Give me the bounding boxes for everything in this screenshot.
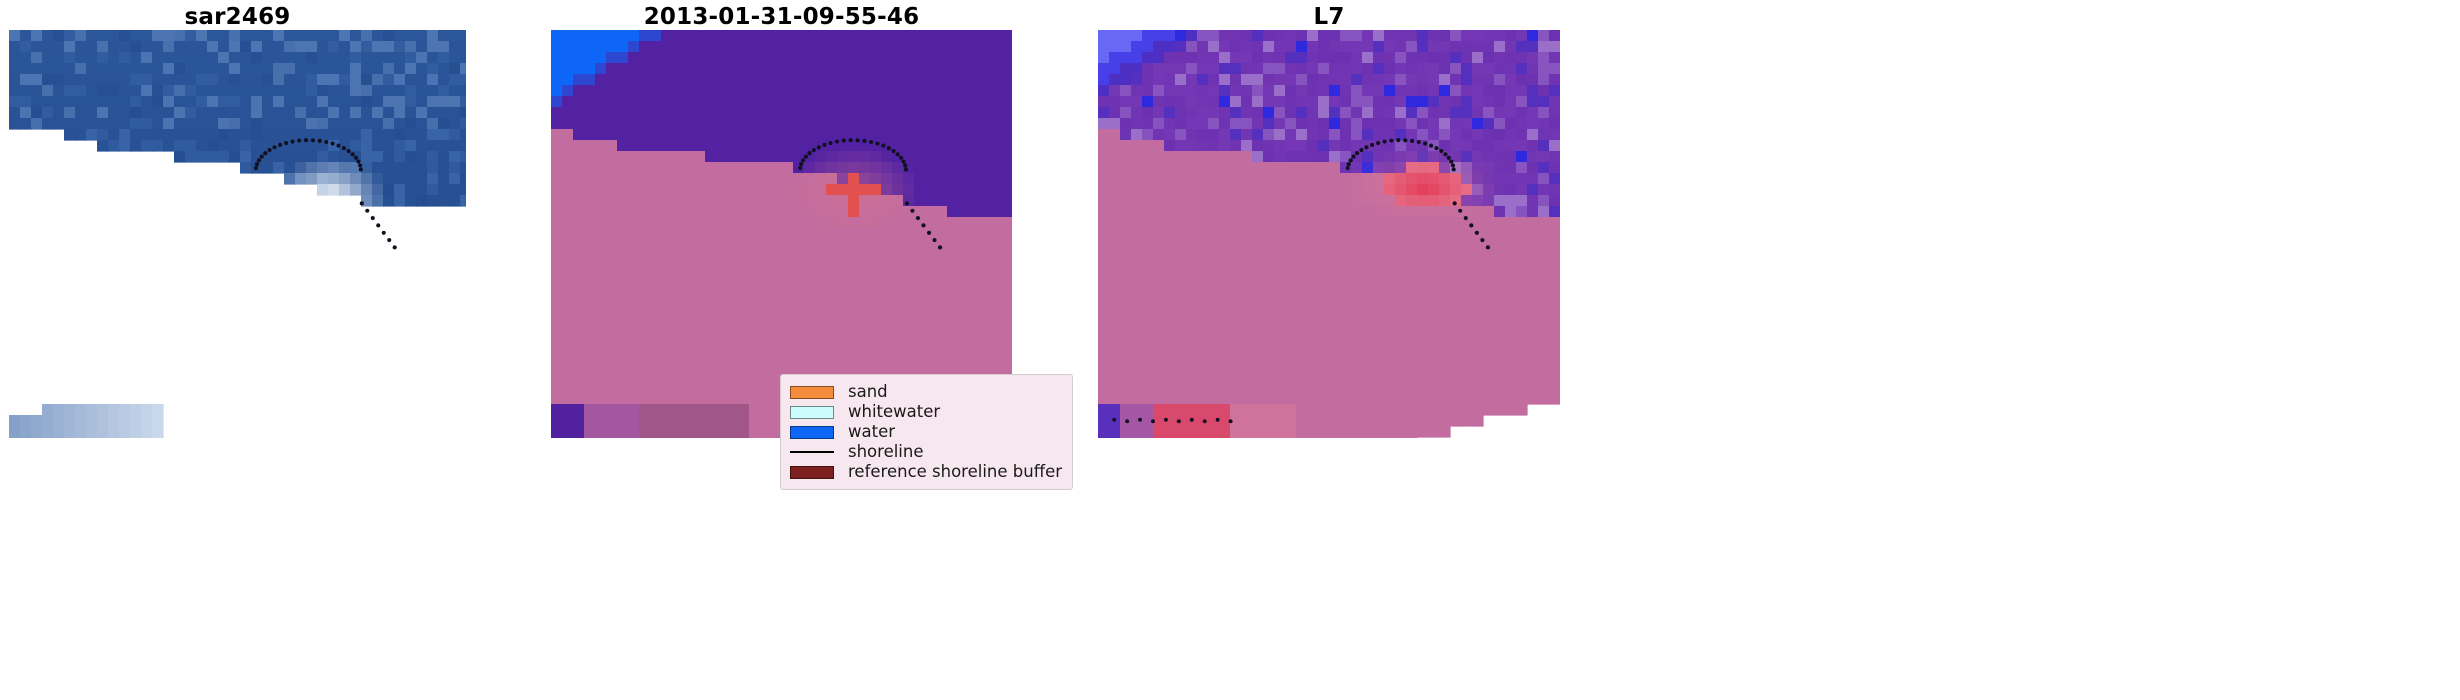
legend-label-whitewater: whitewater xyxy=(842,402,940,422)
legend-item-water[interactable]: water xyxy=(790,422,1062,442)
legend-swatch-whitewater-cell xyxy=(790,406,842,419)
legend-item-whitewater[interactable]: whitewater xyxy=(790,402,1062,422)
legend-swatch-water-cell xyxy=(790,426,842,439)
panel-image-wrap-sar xyxy=(9,30,466,438)
legend-item-sand[interactable]: sand xyxy=(790,382,1062,402)
panel-title-classified: 2013-01-31-09-55-46 xyxy=(551,4,1012,30)
legend-label-shoreline: shoreline xyxy=(842,442,924,462)
legend-swatch-sand-cell xyxy=(790,386,842,399)
legend-swatch-whitewater xyxy=(790,406,834,419)
legend-swatch-buffer-cell xyxy=(790,466,842,479)
legend-swatch-shoreline xyxy=(790,451,834,453)
legend-swatch-water xyxy=(790,426,834,439)
panel-title-sar: sar2469 xyxy=(9,4,466,30)
panel-classified: 2013-01-31-09-55-46 xyxy=(551,0,1012,700)
legend[interactable]: sand whitewater water shoreline referenc… xyxy=(780,374,1073,490)
panel-image-sar[interactable] xyxy=(9,30,466,438)
panel-image-wrap-l7 xyxy=(1098,30,1560,438)
panel-sar: sar2469 xyxy=(9,0,466,700)
legend-label-sand: sand xyxy=(842,382,888,402)
panel-title-l7: L7 xyxy=(1098,4,1560,30)
panel-image-l7[interactable] xyxy=(1098,30,1560,438)
panel-l7: L7 xyxy=(1098,0,1560,700)
legend-item-reference-shoreline-buffer[interactable]: reference shoreline buffer xyxy=(790,462,1062,482)
legend-swatch-shoreline-cell xyxy=(790,451,842,453)
legend-item-shoreline[interactable]: shoreline xyxy=(790,442,1062,462)
legend-label-reference-shoreline-buffer: reference shoreline buffer xyxy=(842,462,1062,482)
legend-label-water: water xyxy=(842,422,895,442)
figure-canvas: sar2469 2013-01-31-09-55-46 L7 sand whit… xyxy=(0,0,2460,700)
legend-swatch-sand xyxy=(790,386,834,399)
legend-swatch-reference-shoreline-buffer xyxy=(790,466,834,479)
